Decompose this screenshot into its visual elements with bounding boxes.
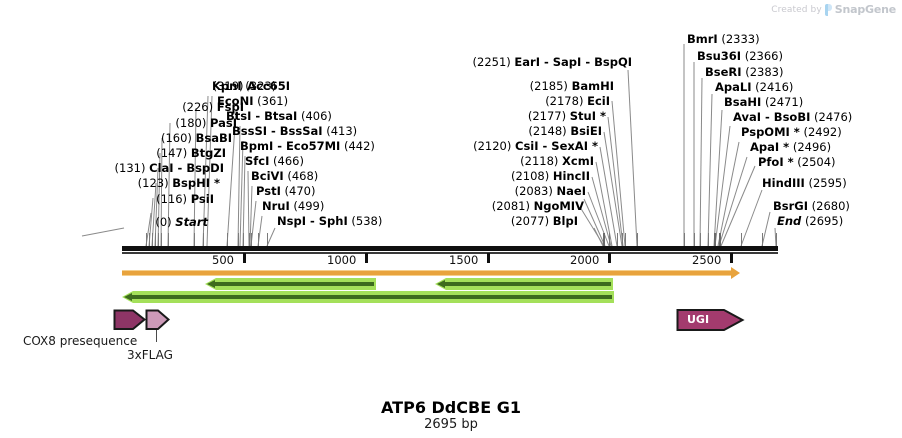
enzyme-label[interactable]: (2120) CsiI - SexAI *: [400, 140, 598, 152]
enzyme-position: (2476): [814, 110, 852, 124]
site-tick: [152, 233, 153, 247]
site-tick: [637, 233, 638, 247]
enzyme-label[interactable]: SfcI (466): [245, 155, 304, 167]
enzyme-name: BsiEI: [570, 124, 602, 138]
orange-feature-body[interactable]: [122, 270, 731, 276]
enzyme-label[interactable]: (116) PsiI: [0, 193, 214, 205]
enzyme-position: (2416): [755, 80, 793, 94]
enzyme-position: (2177): [528, 109, 566, 123]
enzyme-name: PfoI *: [758, 155, 794, 169]
site-tick: [625, 233, 626, 247]
enzyme-name: Bsu36I: [697, 49, 741, 63]
flag-arrow-shape: [145, 308, 171, 332]
enzyme-label[interactable]: BciVI (468): [251, 170, 318, 182]
enzyme-position: (2251): [473, 55, 511, 69]
enzyme-name: EciI: [587, 94, 610, 108]
feature-ugi[interactable]: UGI: [676, 307, 743, 329]
feature-3xflag[interactable]: [145, 308, 169, 330]
site-tick: [161, 233, 162, 247]
enzyme-name: ApaI *: [750, 140, 789, 154]
enzyme-position: (470): [285, 184, 316, 198]
enzyme-label[interactable]: (180) PasI: [0, 117, 237, 129]
enzyme-position: (2492): [803, 125, 841, 139]
enzyme-position: (2471): [765, 95, 803, 109]
end-name: End: [777, 214, 801, 228]
ruler-tick: [608, 253, 611, 263]
feature-cox8-presequence[interactable]: [113, 308, 143, 330]
site-tick: [267, 233, 268, 247]
enzyme-position: (499): [293, 199, 324, 213]
end-position: (2695): [805, 214, 843, 228]
enzyme-name: BlpI: [553, 214, 578, 228]
site-tick: [249, 233, 250, 247]
enzyme-name: EcoNI: [217, 94, 253, 108]
enzyme-position: (2108): [511, 169, 549, 183]
enzyme-name: BseRI: [705, 65, 742, 79]
enzyme-name: BamHI: [572, 79, 614, 93]
enzyme-position: (2120): [473, 139, 511, 153]
cox8-arrow-shape: [113, 308, 147, 332]
ruler-tick-label: 1000: [327, 253, 356, 267]
enzyme-position: (538): [351, 214, 382, 228]
enzyme-label[interactable]: BtsI - BtsaI (406): [226, 110, 332, 122]
start-name: Start: [175, 215, 208, 229]
green-feature-arrow[interactable]: [435, 278, 613, 290]
site-tick: [609, 233, 610, 247]
site-tick: [158, 233, 159, 247]
enzyme-label[interactable]: (2077) BlpI: [430, 215, 578, 227]
enzyme-label[interactable]: PstI (470): [256, 185, 315, 197]
enzyme-label[interactable]: (2251) EarI - SapI - BspQI: [370, 56, 632, 68]
enzyme-label[interactable]: AvaI - BsoBI (2476): [733, 111, 852, 123]
enzyme-label[interactable]: PfoI * (2504): [758, 156, 836, 168]
site-tick: [719, 233, 721, 247]
site-tick: [203, 233, 204, 247]
ruler-tick-label: 2000: [570, 253, 599, 267]
start-position: (0): [155, 215, 171, 229]
site-tick: [149, 233, 150, 247]
start-label[interactable]: (0) Start: [0, 216, 208, 228]
enzyme-label[interactable]: NspI - SphI (538): [277, 215, 382, 227]
enzyme-name: BciVI: [251, 169, 284, 183]
enzyme-position: (2081): [492, 199, 530, 213]
ruler-tick: [487, 253, 490, 263]
enzyme-label[interactable]: NruI (499): [262, 200, 324, 212]
enzyme-name: NgoMIV: [534, 199, 584, 213]
enzyme-position: (2185): [530, 79, 568, 93]
enzyme-label[interactable]: BmrI (2333): [687, 33, 760, 45]
enzyme-label[interactable]: (160) BsaBI: [0, 132, 232, 144]
enzyme-label[interactable]: (2178) EciI: [440, 95, 610, 107]
sequence-map: Created by SnapGene: [0, 0, 902, 438]
ruler-tick: [243, 253, 246, 263]
enzyme-position: (2366): [745, 49, 783, 63]
enzyme-label[interactable]: BsrGI (2680): [773, 200, 850, 212]
site-tick: [227, 233, 228, 247]
enzyme-label[interactable]: EcoNI (361): [217, 95, 288, 107]
enzyme-label[interactable]: (2185) BamHI: [440, 80, 614, 92]
enzyme-name: EarI - SapI - BspQI: [514, 55, 632, 69]
enzyme-label[interactable]: BssSI - BssSaI (413): [232, 125, 357, 137]
enzyme-label[interactable]: PspOMI * (2492): [741, 126, 842, 138]
enzyme-label[interactable]: (131) ClaI - BspDI: [0, 162, 224, 174]
enzyme-position: (413): [326, 124, 357, 138]
enzyme-name: BsaHI: [724, 95, 761, 109]
site-tick: [238, 233, 239, 247]
green-feature-arrow[interactable]: [205, 278, 376, 290]
enzyme-name: NaeI: [557, 184, 586, 198]
enzyme-label[interactable]: ApaLI (2416): [715, 81, 793, 93]
enzyme-position: (147): [156, 146, 187, 160]
enzyme-label[interactable]: (2083) NaeI: [440, 185, 586, 197]
enzyme-name: ClaI - BspDI: [149, 161, 224, 175]
enzyme-name: BsrGI: [773, 199, 808, 213]
site-tick: [617, 233, 618, 247]
enzyme-name: BsaBI: [196, 131, 232, 145]
feature-leader-3xflag: [156, 330, 157, 342]
enzyme-position: (2496): [793, 140, 831, 154]
enzyme-position: (116): [156, 192, 187, 206]
green-feature-arrow[interactable]: [122, 291, 614, 303]
enzyme-name: PstI: [256, 184, 281, 198]
ruler-tick: [365, 253, 368, 263]
enzyme-position: (2077): [511, 214, 549, 228]
enzyme-label[interactable]: (2108) HincII: [440, 170, 590, 182]
enzyme-label[interactable]: KpnI (323): [212, 80, 276, 92]
sequence-length: 2695 bp: [0, 417, 902, 432]
enzyme-name: KpnI: [212, 79, 242, 93]
enzyme-label[interactable]: (2118) XcmI: [440, 155, 594, 167]
enzyme-name: BtgZI: [191, 146, 226, 160]
enzyme-name: HindIII: [762, 176, 805, 190]
enzyme-position: (131): [115, 161, 146, 175]
sequence-title: ATP6 DdCBE G1: [0, 398, 902, 417]
enzyme-label[interactable]: HindIII (2595): [762, 177, 847, 189]
enzyme-position: (2333): [721, 32, 759, 46]
enzyme-position: (323): [245, 79, 276, 93]
ruler-tick: [730, 253, 733, 263]
site-tick: [603, 233, 605, 247]
site-tick: [694, 233, 695, 247]
enzyme-position: (160): [161, 131, 192, 145]
site-tick: [146, 233, 147, 247]
enzyme-name: PsiI: [191, 192, 214, 206]
site-tick: [684, 233, 685, 247]
site-tick: [741, 233, 742, 247]
enzyme-position: (2178): [545, 94, 583, 108]
site-tick: [776, 233, 777, 247]
enzyme-name: CsiI - SexAI *: [515, 139, 598, 153]
enzyme-position: (406): [301, 109, 332, 123]
enzyme-name: PspOMI *: [741, 125, 800, 139]
enzyme-name: AvaI - BsoBI: [733, 110, 810, 124]
enzyme-label[interactable]: BpmI - Eco57MI (442): [240, 140, 375, 152]
enzyme-position: (123): [138, 176, 169, 190]
enzyme-label[interactable]: ApaI * (2496): [750, 141, 831, 153]
feature-label-cox8: COX8 presequence: [23, 334, 137, 348]
enzyme-name: StuI *: [570, 109, 606, 123]
enzyme-position: (466): [273, 154, 304, 168]
site-tick: [708, 233, 709, 247]
site-tick: [168, 233, 169, 247]
enzyme-label[interactable]: (2177) StuI *: [440, 110, 606, 122]
site-tick: [155, 233, 156, 247]
site-tick: [700, 233, 701, 247]
site-tick: [762, 233, 763, 247]
enzyme-label[interactable]: (123) BspHI *: [0, 177, 220, 189]
enzyme-position: (2083): [515, 184, 553, 198]
orange-feature-arrowhead: [731, 267, 740, 279]
ruler-tick-label: 1500: [449, 253, 478, 267]
snapgene-watermark: Created by SnapGene: [771, 3, 896, 16]
snapgene-logo-icon: [825, 4, 832, 16]
enzyme-label[interactable]: (147) BtgZI: [0, 147, 226, 159]
enzyme-position: (442): [344, 139, 375, 153]
enzyme-name: SfcI: [245, 154, 269, 168]
enzyme-name: BpmI - Eco57MI: [240, 139, 340, 153]
site-tick: [622, 233, 623, 247]
enzyme-label[interactable]: (2148) BsiEI: [440, 125, 602, 137]
enzyme-name: BspHI *: [172, 176, 220, 190]
enzyme-label[interactable]: BseRI (2383): [705, 66, 783, 78]
watermark-brand: SnapGene: [835, 3, 896, 16]
site-tick: [258, 233, 259, 247]
enzyme-position: (180): [175, 116, 206, 130]
enzyme-name: ApaLI: [715, 80, 752, 94]
feature-label-3xflag: 3xFLAG: [127, 348, 173, 362]
enzyme-name: HincII: [553, 169, 590, 183]
enzyme-name: BmrI: [687, 32, 718, 46]
enzyme-position: (2680): [812, 199, 850, 213]
enzyme-position: (2595): [808, 176, 846, 190]
enzyme-name: NspI - SphI: [277, 214, 348, 228]
enzyme-position: (2118): [520, 154, 558, 168]
site-tick: [251, 233, 252, 247]
ruler-tick-label: 2500: [692, 253, 721, 267]
site-tick: [243, 233, 244, 247]
enzyme-position: (468): [287, 169, 318, 183]
enzyme-position: (361): [257, 94, 288, 108]
ruler-tick-label: 500: [212, 253, 234, 267]
enzyme-name: NruI: [262, 199, 290, 213]
enzyme-position: (2383): [745, 65, 783, 79]
enzyme-name: BssSI - BssSaI: [232, 124, 323, 138]
site-tick: [714, 233, 716, 247]
enzyme-position: (2504): [797, 155, 835, 169]
enzyme-position: (2148): [528, 124, 566, 138]
feature-label-ugi: UGI: [687, 313, 709, 326]
watermark-created-by: Created by: [771, 5, 822, 15]
site-tick: [194, 233, 195, 247]
sequence-backbone[interactable]: [122, 246, 778, 251]
enzyme-name: XcmI: [562, 154, 594, 168]
enzyme-label[interactable]: (226) FspI: [0, 101, 244, 113]
enzyme-label[interactable]: (2081) NgoMIV: [410, 200, 584, 212]
enzyme-name: BtsI - BtsaI: [226, 109, 297, 123]
enzyme-label[interactable]: BsaHI (2471): [724, 96, 803, 108]
end-label[interactable]: End (2695): [777, 215, 843, 227]
enzyme-position: (226): [182, 100, 213, 114]
enzyme-label[interactable]: Bsu36I (2366): [697, 50, 783, 62]
